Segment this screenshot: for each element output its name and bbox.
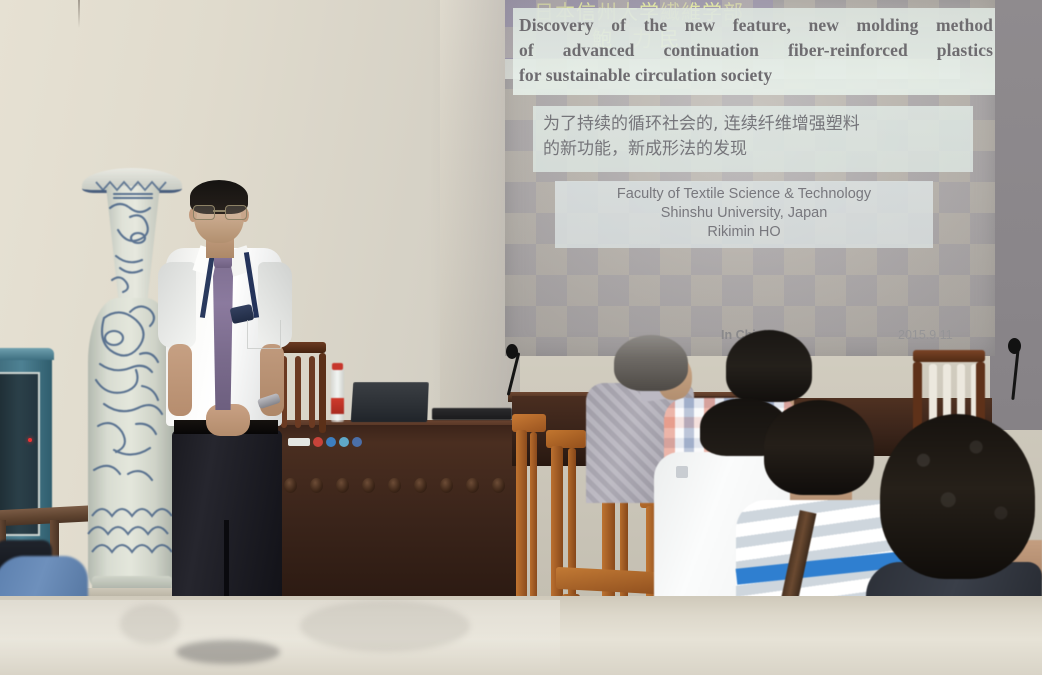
laptop	[351, 382, 429, 422]
attendee-hair	[764, 400, 874, 495]
cabinet-power-led	[28, 438, 32, 442]
floor-reflection	[120, 604, 180, 644]
presenter-shoe-reflection	[176, 640, 280, 664]
attendee-hair	[614, 335, 688, 391]
podium-sticker	[352, 437, 362, 447]
presentation-photograph: Discovery of the new feature, new moldin…	[0, 0, 1042, 675]
presenter-shirt-pocket	[247, 320, 281, 349]
desk-device	[432, 408, 512, 420]
floor-reflection-sheen	[0, 600, 560, 675]
podium-sticker	[326, 437, 336, 447]
podium-sticker	[339, 437, 349, 447]
water-bottle-label	[331, 398, 344, 414]
projection-screen: Discovery of the new feature, new moldin…	[505, 0, 995, 356]
presenter-necktie	[213, 258, 233, 410]
eyeglasses-icon	[193, 205, 245, 218]
podium-stickers	[288, 436, 368, 447]
podium-sticker	[313, 437, 323, 447]
presenter-sleeve-left	[158, 262, 196, 348]
podium-stud-row	[258, 478, 514, 498]
water-bottle-cap	[332, 363, 343, 370]
attendee-shirt-tag	[676, 466, 688, 478]
cabinet-top	[0, 348, 54, 360]
podium-sticker	[288, 438, 310, 446]
screen-vignette	[505, 0, 995, 356]
floor-reflection	[300, 600, 470, 652]
attendee-hair	[726, 330, 812, 402]
attendee-curly-hair	[880, 414, 1035, 579]
wall-crack	[78, 0, 80, 28]
podium-front	[256, 425, 516, 600]
presenter-forearm-left	[168, 344, 192, 416]
